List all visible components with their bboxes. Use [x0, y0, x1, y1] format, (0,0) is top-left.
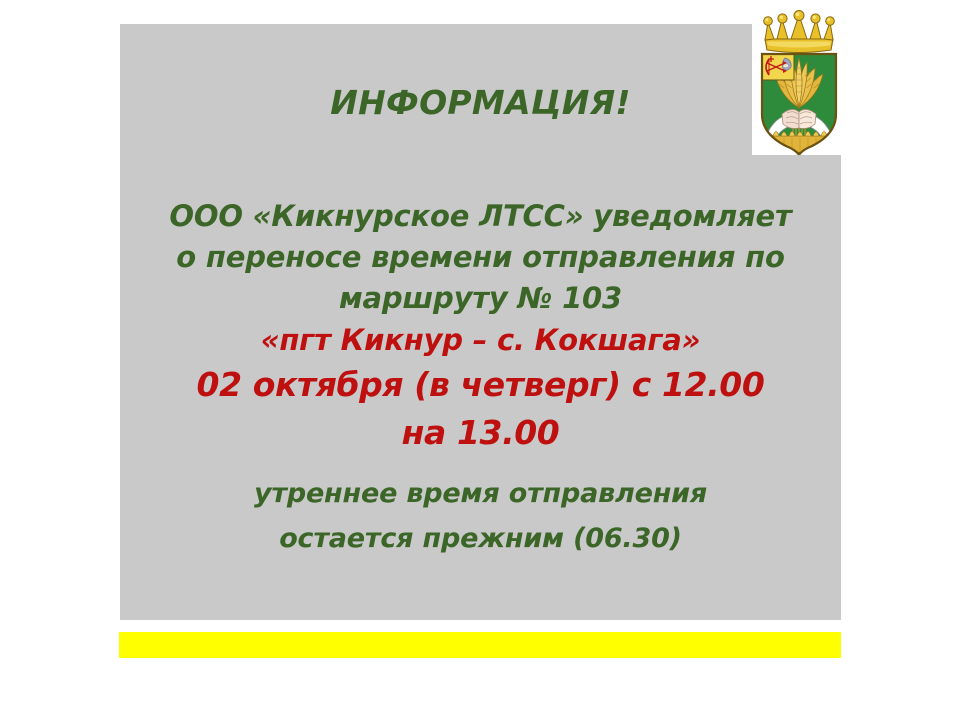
announcement-line-lead-3: маршруту № 103: [134, 278, 827, 319]
text-spacer: [134, 457, 827, 471]
announcement-line-note-1: утреннее время отправления: [134, 471, 827, 516]
announcement-slide: ИНФОРМАЦИЯ! ООО «Кикнурское ЛТСС» уведом…: [0, 0, 960, 720]
announcement-line-lead-2: о переносе времени отправления по: [134, 237, 827, 278]
announcement-line-lead-1: ООО «Кикнурское ЛТСС» уведомляет: [134, 196, 827, 237]
announcement-line-route: «пгт Кикнур – с. Кокшага»: [134, 319, 827, 361]
announcement-text-block: ООО «Кикнурское ЛТСС» уведомляет о перен…: [134, 196, 827, 561]
coat-of-arms-icon: [752, 10, 846, 155]
canton-kirov-arms: [762, 54, 794, 80]
page-title: ИНФОРМАЦИЯ!: [120, 84, 841, 122]
accent-bar: [119, 632, 841, 658]
coat-of-arms-emblem: [752, 10, 846, 155]
announcement-line-note-2: остается прежним (06.30): [134, 516, 827, 561]
content-panel: ИНФОРМАЦИЯ! ООО «Кикнурское ЛТСС» уведом…: [120, 24, 841, 620]
announcement-line-date-2: на 13.00: [134, 409, 827, 457]
announcement-line-date-1: 02 октября (в четверг) с 12.00: [134, 361, 827, 409]
